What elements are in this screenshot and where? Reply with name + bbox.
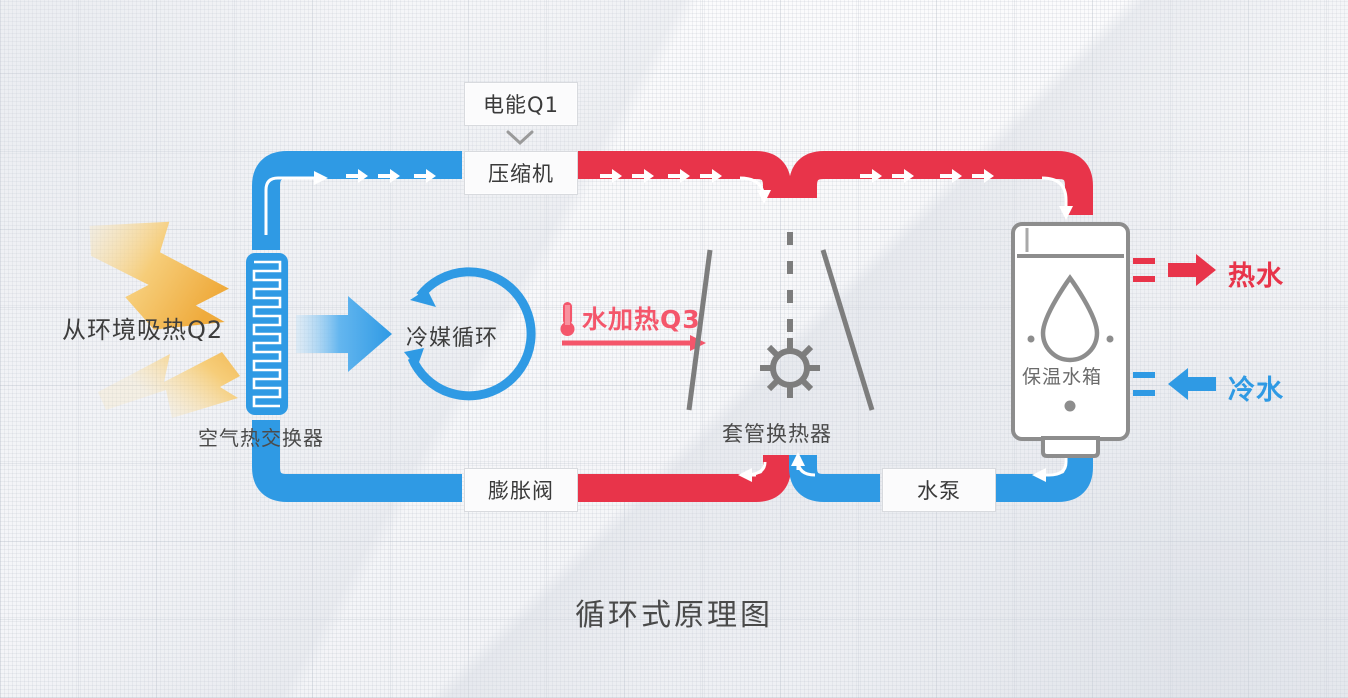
water-drop-icon [1043, 278, 1097, 360]
expansion-valve-label: 膨胀阀 [488, 475, 554, 505]
chevron-down-icon [508, 132, 532, 143]
blue-arrow-left-icon [1133, 368, 1216, 400]
pipe-blue-water-return [791, 452, 880, 488]
compressor-box[interactable]: 压缩机 [464, 151, 578, 195]
pipe-red-discharge [578, 165, 777, 204]
pipe-blue-suction [266, 165, 462, 250]
coil-icon [246, 253, 288, 415]
water-heating-label: 水加热Q3 [582, 300, 701, 336]
insulated-tank-label: 保温水箱 [1022, 362, 1102, 389]
air-heat-exchanger-label: 空气热交换器 [198, 422, 324, 451]
sun-burst-icon [760, 338, 820, 398]
red-arrow-right-icon [1133, 254, 1216, 286]
water-heating-arrow [562, 335, 706, 351]
pipe-red-return-bottom [578, 455, 810, 488]
diagram-canvas: 电能Q1 压缩机 膨胀阀 水泵 从环境吸热Q2 空气热交换器 冷媒循环 水加热Q… [0, 0, 1348, 698]
thermometer-icon [561, 302, 575, 336]
pipe-red-hot-water-supply [803, 165, 1079, 220]
refrigerant-cycle-label: 冷媒循环 [406, 320, 498, 352]
compressor-label: 压缩机 [488, 158, 554, 188]
power-input-label: 电能Q1 [483, 89, 559, 119]
cold-water-label: 冷水 [1228, 368, 1284, 407]
orange-arrow-icon [98, 352, 240, 418]
pipe-blue-tank-to-pump [996, 440, 1079, 488]
power-input-box[interactable]: 电能Q1 [464, 82, 578, 126]
water-pump-label: 水泵 [917, 475, 961, 505]
hot-water-label: 热水 [1228, 254, 1284, 293]
coaxial-heat-exchanger-icon [689, 232, 872, 410]
ambient-heat-label: 从环境吸热Q2 [62, 310, 223, 345]
coaxial-heat-exchanger-label: 套管换热器 [722, 418, 832, 448]
blue-gradient-arrow-icon [296, 296, 392, 372]
water-pump-box[interactable]: 水泵 [882, 468, 996, 512]
water-tank-icon [1013, 224, 1128, 456]
page-title: 循环式原理图 [0, 590, 1348, 634]
expansion-valve-box[interactable]: 膨胀阀 [464, 468, 578, 512]
